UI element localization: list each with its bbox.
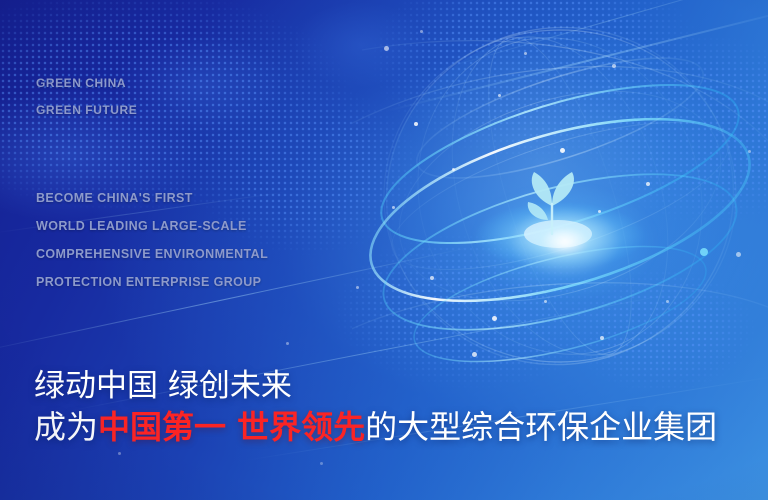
headline: 绿动中国 绿创未来 成为中国第一 世界领先的大型综合环保企业集团 bbox=[34, 366, 717, 448]
eyebrow-text: GREEN CHINA GREEN FUTURE bbox=[36, 70, 137, 124]
subcopy-line-2: WORLD LEADING LARGE-SCALE bbox=[36, 212, 268, 240]
headline-suffix: 的大型综合环保企业集团 bbox=[365, 408, 717, 446]
subcopy-text: BECOME CHINA'S FIRST WORLD LEADING LARGE… bbox=[36, 184, 268, 296]
hero-banner: GREEN CHINA GREEN FUTURE BECOME CHINA'S … bbox=[0, 0, 768, 500]
eyebrow-line-1: GREEN CHINA bbox=[36, 70, 137, 97]
subcopy-line-1: BECOME CHINA'S FIRST bbox=[36, 184, 268, 212]
headline-prefix: 成为 bbox=[34, 408, 98, 446]
subcopy-line-4: PROTECTION ENTERPRISE GROUP bbox=[36, 268, 268, 296]
eyebrow-line-2: GREEN FUTURE bbox=[36, 97, 137, 124]
headline-line-1: 绿动中国 绿创未来 bbox=[34, 366, 717, 407]
headline-highlight: 中国第一 世界领先 bbox=[98, 408, 365, 446]
subcopy-line-3: COMPREHENSIVE ENVIRONMENTAL bbox=[36, 240, 268, 268]
headline-line-2: 成为中国第一 世界领先的大型综合环保企业集团 bbox=[34, 407, 717, 448]
